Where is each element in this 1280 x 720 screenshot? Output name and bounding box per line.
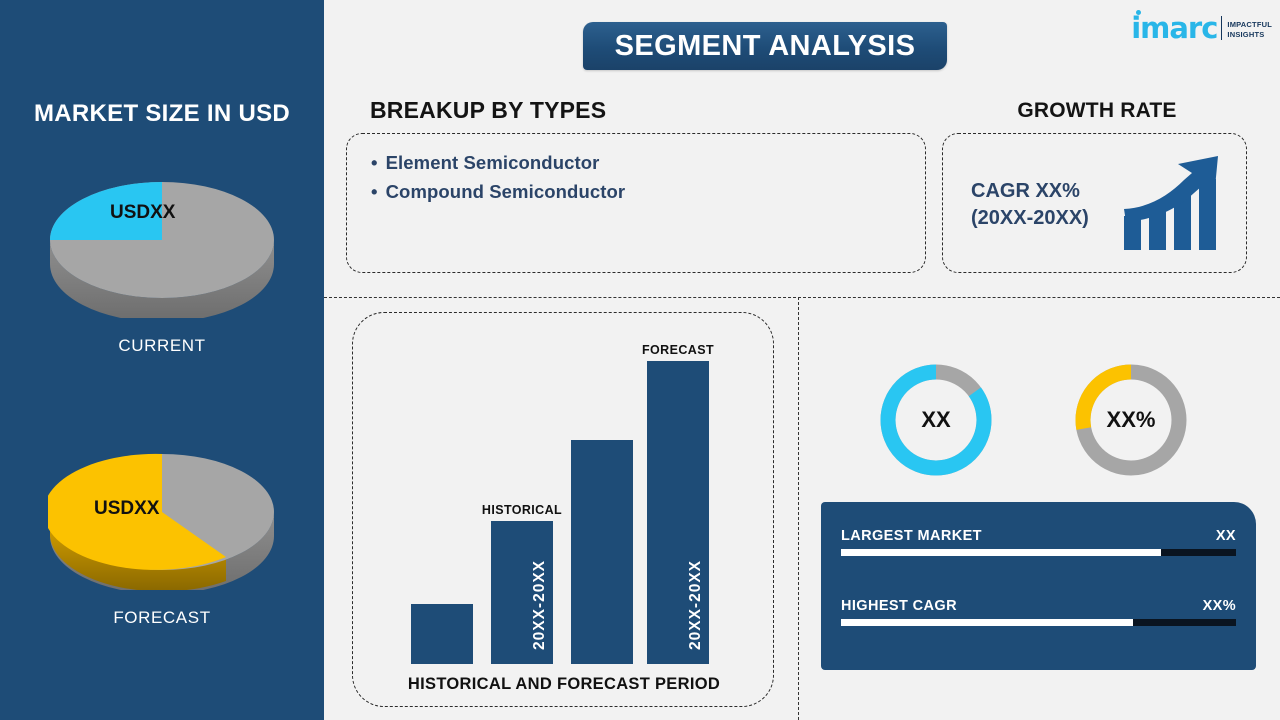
stat-progress-track bbox=[841, 549, 1236, 556]
page-title-banner: SEGMENT ANALYSIS bbox=[583, 22, 947, 70]
list-item: Element Semiconductor bbox=[371, 148, 925, 177]
breakup-by-types-heading: BREAKUP BY TYPES bbox=[370, 97, 606, 124]
growth-rate-box: CAGR XX% (20XX-20XX) bbox=[942, 133, 1247, 273]
stat-value: XX bbox=[1216, 528, 1236, 544]
growth-bar-arrow-icon bbox=[1122, 154, 1226, 259]
bar-1-inner-label: 20XX-20XX bbox=[531, 560, 549, 650]
growth-rate-heading: GROWTH RATE bbox=[942, 99, 1252, 123]
logo-text: imarc bbox=[1131, 14, 1217, 42]
donut-yellow-value: XX% bbox=[1072, 361, 1190, 479]
logo-tagline: IMPACTFUL INSIGHTS bbox=[1227, 20, 1272, 42]
logo-tagline-line2: INSIGHTS bbox=[1227, 30, 1272, 40]
logo-tagline-line1: IMPACTFUL bbox=[1227, 20, 1272, 30]
bar-2 bbox=[571, 440, 633, 664]
stat-progress-track bbox=[841, 619, 1236, 626]
bar-3-annotation: FORECAST bbox=[642, 343, 714, 357]
main-content: SEGMENT ANALYSIS imarc IMPACTFUL INSIGHT… bbox=[324, 0, 1280, 720]
stat-row-header: HIGHEST CAGR XX% bbox=[841, 598, 1236, 614]
stat-label: LARGEST MARKET bbox=[841, 528, 982, 544]
stat-row-highest-cagr: HIGHEST CAGR XX% bbox=[841, 598, 1236, 626]
sidebar-title: MARKET SIZE IN USD bbox=[0, 100, 324, 128]
stat-value: XX% bbox=[1203, 598, 1236, 614]
bar-chart-axis-label: HISTORICAL AND FORECAST PERIOD bbox=[353, 675, 775, 694]
horizontal-divider bbox=[324, 297, 1280, 298]
cagr-value: CAGR XX% bbox=[971, 178, 1089, 205]
donut-chart-largest: XX bbox=[877, 361, 995, 479]
breakup-by-types-box: Element Semiconductor Compound Semicondu… bbox=[346, 133, 926, 273]
bar-3: FORECAST 20XX-20XX bbox=[647, 361, 709, 664]
pie-current-label: CURRENT bbox=[0, 336, 324, 356]
pie-forecast-label: FORECAST bbox=[0, 608, 324, 628]
market-stats-panel: LARGEST MARKET XX HIGHEST CAGR XX% bbox=[821, 502, 1256, 670]
page-title: SEGMENT ANALYSIS bbox=[615, 30, 916, 63]
stat-label: HIGHEST CAGR bbox=[841, 598, 957, 614]
market-size-current-block: USDXX CURRENT bbox=[0, 168, 324, 356]
cagr-period: (20XX-20XX) bbox=[971, 205, 1089, 232]
sidebar: MARKET SIZE IN USD USDXX CURRENT bbox=[0, 0, 324, 720]
pie-forecast-svg bbox=[48, 440, 276, 590]
bar-1: HISTORICAL 20XX-20XX bbox=[491, 521, 553, 664]
pie-chart-forecast: USDXX bbox=[48, 440, 276, 590]
vertical-divider bbox=[798, 297, 799, 720]
logo-divider bbox=[1221, 16, 1222, 40]
bar-chart: HISTORICAL 20XX-20XX FORECAST 20XX-20XX … bbox=[353, 313, 775, 708]
list-item: Compound Semiconductor bbox=[371, 177, 925, 206]
cagr-text: CAGR XX% (20XX-20XX) bbox=[971, 178, 1089, 232]
stat-progress-fill bbox=[841, 619, 1133, 626]
donut-chart-cagr: XX% bbox=[1072, 361, 1190, 479]
stat-row-header: LARGEST MARKET XX bbox=[841, 528, 1236, 544]
pie-chart-current: USDXX bbox=[48, 168, 276, 318]
bar-1-annotation: HISTORICAL bbox=[482, 503, 562, 517]
bar-3-inner-label: 20XX-20XX bbox=[687, 560, 705, 650]
types-list: Element Semiconductor Compound Semicondu… bbox=[347, 134, 925, 206]
stat-progress-fill bbox=[841, 549, 1161, 556]
donut-cyan-value: XX bbox=[877, 361, 995, 479]
market-size-forecast-block: USDXX FORECAST bbox=[0, 440, 324, 628]
stat-row-largest-market: LARGEST MARKET XX bbox=[841, 528, 1236, 556]
pie-current-svg bbox=[48, 168, 276, 318]
imarc-logo: imarc IMPACTFUL INSIGHTS bbox=[1131, 14, 1272, 42]
bar-0 bbox=[411, 604, 473, 664]
logo-wordmark: imarc bbox=[1131, 14, 1217, 42]
historical-forecast-chart-box: HISTORICAL 20XX-20XX FORECAST 20XX-20XX … bbox=[352, 312, 774, 707]
